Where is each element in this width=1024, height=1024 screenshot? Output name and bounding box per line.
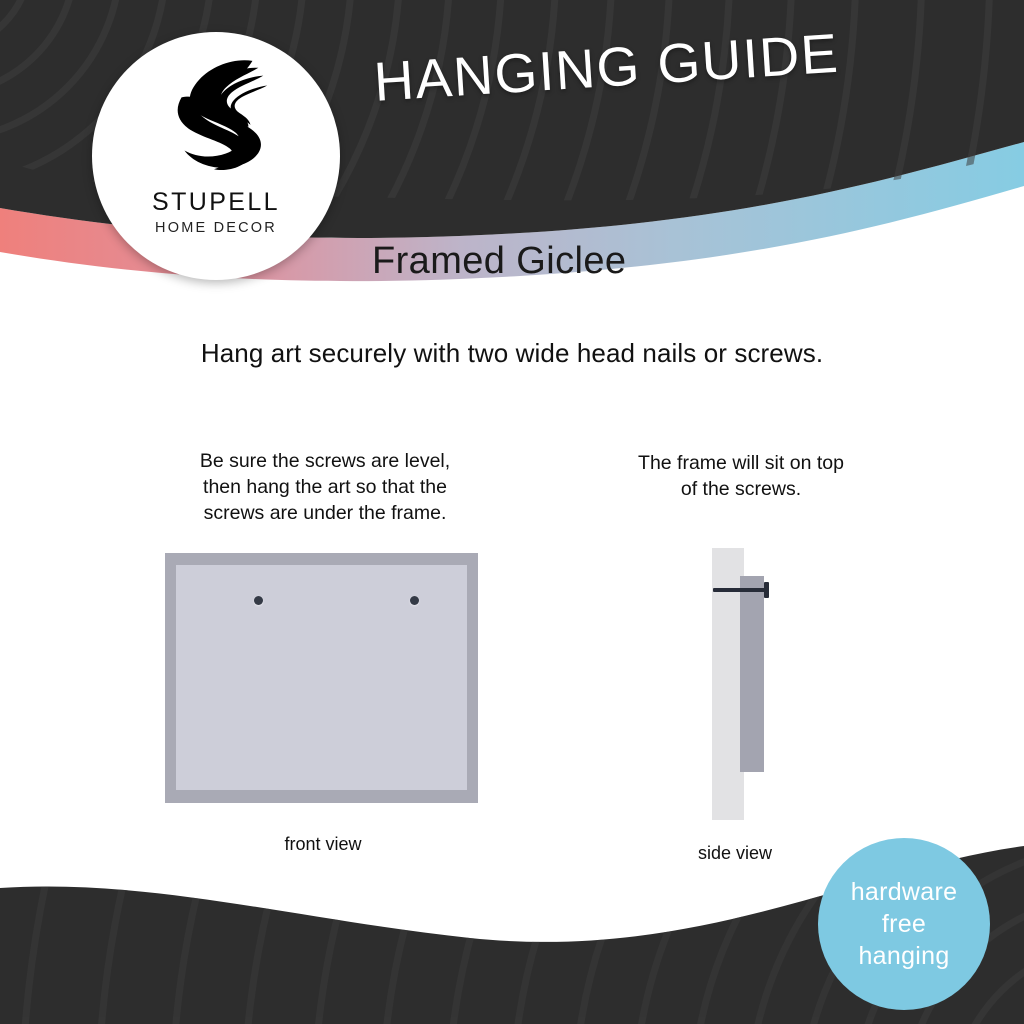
front-view-mat — [176, 565, 467, 790]
front-view-diagram — [165, 553, 478, 803]
side-view-diagram — [690, 540, 800, 825]
caption-line: of the screws. — [596, 476, 886, 502]
logo-wordmark: STUPELL — [152, 188, 280, 217]
caption-line: The frame will sit on top — [596, 450, 886, 476]
logo-tagline: HOME DECOR — [155, 220, 277, 236]
side-view-frame — [740, 576, 764, 772]
screw-dot-left-icon — [254, 596, 263, 605]
hanging-guide-page: STUPELL HOME DECOR HANGING GUIDE Framed … — [0, 0, 1024, 1024]
badge-line: hanging — [858, 940, 949, 972]
lead-instruction: Hang art securely with two wide head nai… — [0, 338, 1024, 369]
screw-shank-icon — [713, 588, 769, 592]
hardware-free-badge: hardware free hanging — [818, 838, 990, 1010]
caption-line: Be sure the screws are level, — [160, 448, 490, 474]
side-view-label: side view — [640, 843, 830, 864]
badge-line: hardware — [851, 876, 958, 908]
badge-line: free — [882, 908, 926, 940]
brand-logo-badge: STUPELL HOME DECOR — [92, 32, 340, 280]
stupell-swoosh-logo-icon — [156, 54, 276, 184]
screw-dot-right-icon — [410, 596, 419, 605]
screw-head-icon — [764, 582, 769, 598]
front-view-label: front view — [200, 834, 446, 855]
caption-line: then hang the art so that the — [160, 474, 490, 500]
product-type-title: Framed Giclee — [372, 240, 626, 283]
caption-line: screws are under the frame. — [160, 500, 490, 526]
side-view-caption: The frame will sit on top of the screws. — [596, 450, 886, 502]
front-view-caption: Be sure the screws are level, then hang … — [160, 448, 490, 526]
